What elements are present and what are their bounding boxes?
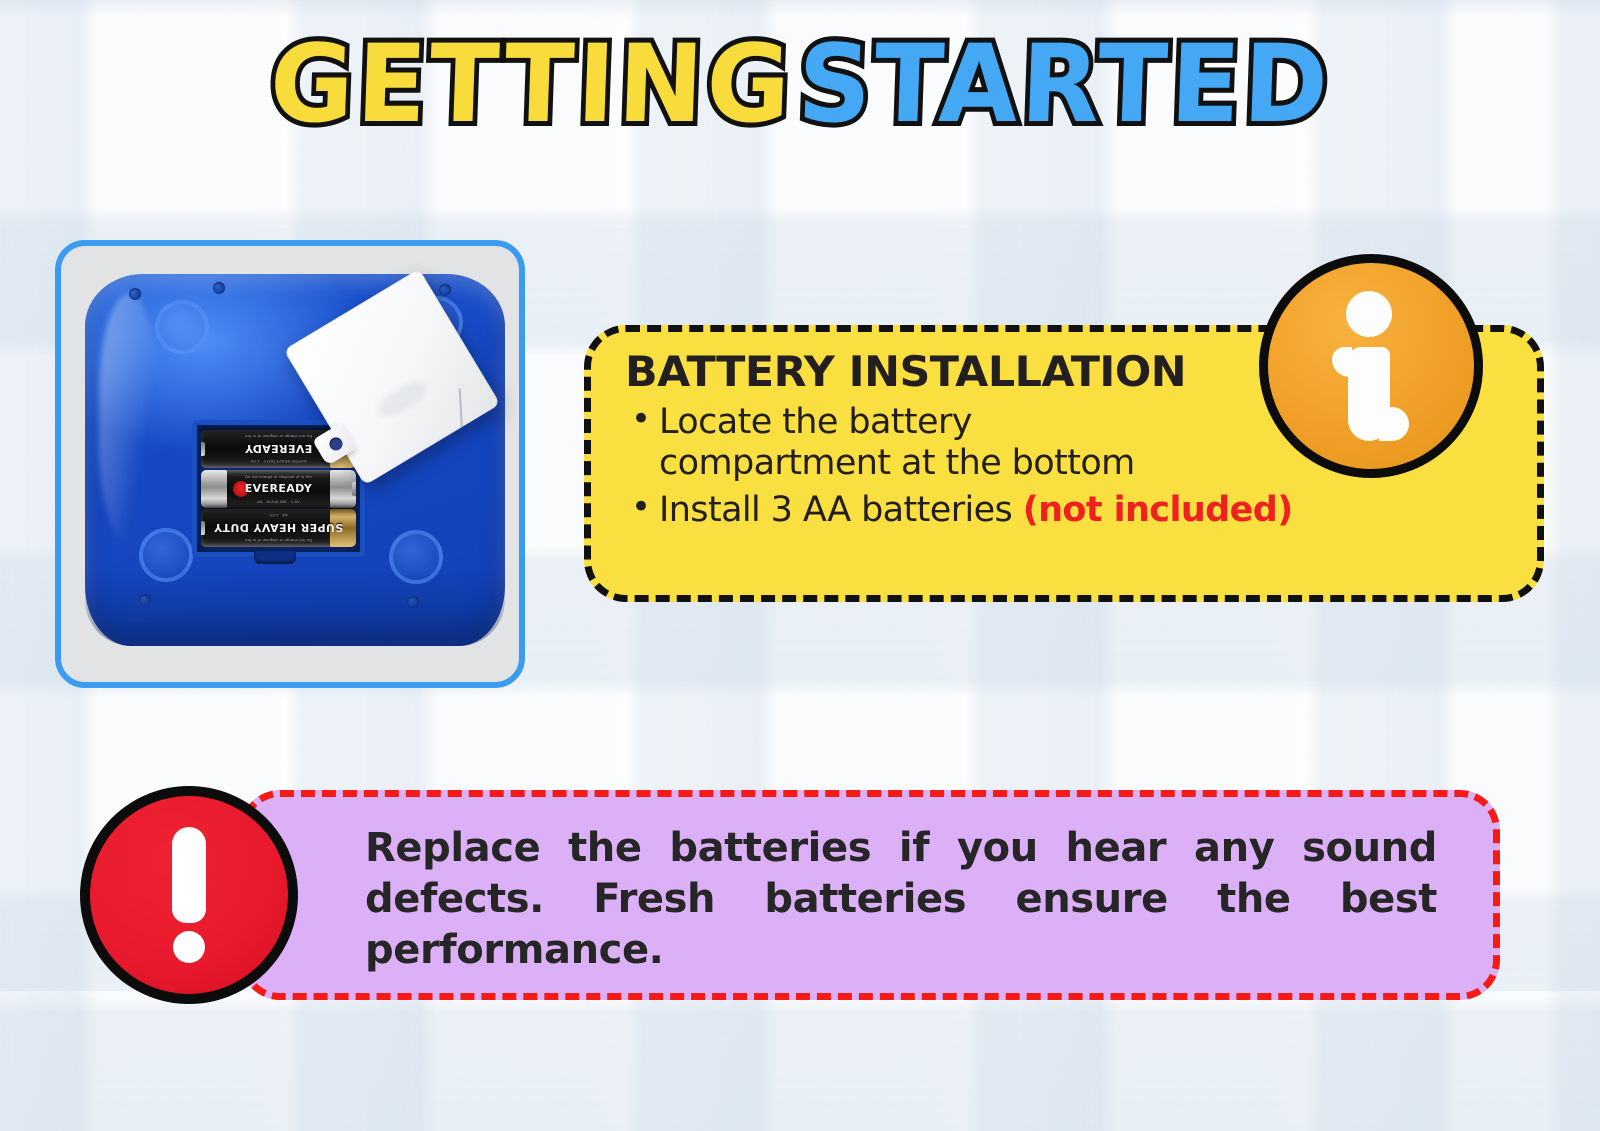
not-included-note: (not included) bbox=[1023, 490, 1293, 530]
info-glyph bbox=[1332, 291, 1410, 441]
warning-text: Replace the batteries if you hear any so… bbox=[365, 823, 1437, 1028]
rubber-foot-ring bbox=[139, 528, 193, 582]
battery-compartment-photo: SUPER HEAVY DUTY 1.5V EVEREADY Do not ch… bbox=[55, 240, 525, 688]
compartment-latch bbox=[254, 551, 296, 564]
page-title-word-started: STARTED bbox=[796, 30, 1333, 138]
warning-card: Replace the batteries if you hear any so… bbox=[240, 790, 1500, 1000]
info-icon bbox=[1259, 254, 1483, 478]
page-title-word-getting: GETTING bbox=[268, 30, 795, 138]
battery-fine-print: SUPER HEAVY DUTY 1.5V bbox=[231, 459, 326, 464]
screw-hole bbox=[407, 596, 419, 608]
rubber-foot-ring bbox=[155, 300, 209, 354]
list-item-line-1: Locate the battery bbox=[659, 402, 972, 442]
battery-cell: Do not charge or dispose of in fire EVER… bbox=[201, 470, 356, 508]
list-item-text: Install 3 AA batteries bbox=[659, 490, 1023, 530]
battery-cell: Do not charge or dispose of in fire SUPE… bbox=[201, 509, 356, 547]
exclamation-glyph bbox=[172, 827, 206, 963]
battery-fine-print: Do not charge or dispose of in fire bbox=[231, 434, 326, 439]
battery-fine-print: Do not charge or dispose of in fire bbox=[231, 474, 326, 479]
screw-hole bbox=[129, 288, 141, 300]
info-icon-dot bbox=[1346, 291, 1392, 337]
exclamation-icon bbox=[80, 786, 298, 1004]
screw-hole bbox=[439, 284, 451, 296]
list-item: Install 3 AA batteries (not included) bbox=[625, 490, 1503, 531]
battery-fine-print: AA ALKALINE 1.5V bbox=[231, 499, 326, 504]
battery-line-label: SUPER HEAVY DUTY bbox=[201, 523, 356, 534]
exclamation-dot bbox=[173, 931, 205, 963]
battery-fine-print: AA 1.5V bbox=[231, 513, 326, 518]
cover-smudge bbox=[372, 375, 431, 423]
cover-scratch bbox=[459, 388, 463, 428]
page-title: GETTING STARTED bbox=[0, 36, 1600, 132]
info-icon-stem bbox=[1348, 347, 1390, 441]
screw-hole bbox=[139, 594, 151, 606]
battery-brand-label: EVEREADY bbox=[201, 483, 356, 494]
exclamation-bar bbox=[172, 827, 206, 923]
rubber-foot-ring bbox=[389, 530, 443, 584]
screw-hole bbox=[213, 282, 225, 294]
battery-fine-print: Do not charge or dispose of in fire bbox=[231, 538, 326, 543]
